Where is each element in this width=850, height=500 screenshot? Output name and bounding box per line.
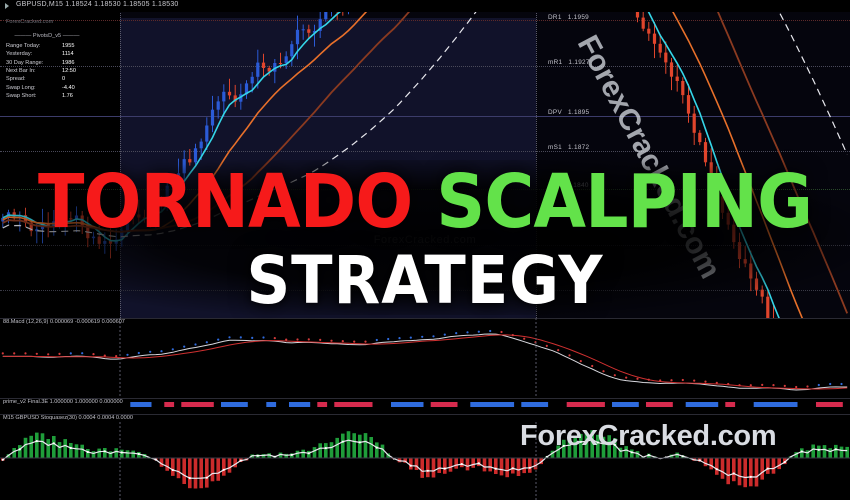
info-row: Swap Long:-4.40 [4, 84, 90, 92]
info-row: Yesterday:1114 [4, 50, 90, 58]
info-row-value: 1114 [62, 50, 88, 58]
prime-label: prime_v2 Final.3E 1.000000 1.000000 0.00… [3, 399, 123, 405]
macd-label: 88.Macd (12,26,9) 0.000069 -0.000619 0.0… [3, 319, 125, 325]
subwindow-macd[interactable]: 88.Macd (12,26,9) 0.000069 -0.000619 0.0… [0, 318, 850, 398]
price-level-label: DS11.1840 [548, 182, 589, 189]
info-row-value: 12:50 [62, 67, 88, 75]
info-row: Range Today:1955 [4, 42, 90, 50]
info-row-value: 1.76 [62, 92, 88, 100]
price-level-label: mS11.1872 [548, 144, 589, 151]
watermark-center: ForexCracked.com [0, 234, 850, 246]
info-row-label: Yesterday: [6, 50, 32, 58]
stoquasez-label: M15 GBPUSD Stoquasez(30) 0.0004 0.0004 0… [3, 415, 133, 421]
pivots-info-panel: ForexCracked.com ——— PivotsD_v5 ——— Rang… [4, 16, 90, 101]
price-level-label: DPV1.1895 [548, 109, 589, 116]
info-row-label: 30 Day Range: [6, 59, 43, 67]
prime-ribbon-svg [0, 398, 850, 414]
info-row: Swap Short:1.76 [4, 92, 90, 100]
price-level-label: DR11.1959 [548, 14, 589, 21]
subwindow-prime[interactable]: prime_v2 Final.3E 1.000000 1.000000 0.00… [0, 398, 850, 414]
collapse-arrow-icon[interactable] [5, 3, 9, 9]
info-row: 30 Day Range:1986 [4, 59, 90, 67]
chart-title-text: GBPUSD,M15 1.18524 1.18530 1.18505 1.185… [16, 1, 179, 8]
info-row-label: Range Today: [6, 42, 40, 50]
info-panel-title: ——— PivotsD_v5 ——— [4, 32, 90, 41]
info-row-value: 1955 [62, 42, 88, 50]
macd-svg [0, 318, 850, 398]
info-row-value: 0 [62, 75, 88, 83]
info-row-value: -4.40 [62, 84, 88, 92]
info-row-label: Spread: [6, 75, 26, 83]
info-panel-watermark: ForexCracked.com [4, 16, 90, 32]
info-row-label: Swap Long: [6, 84, 36, 92]
info-row: Spread:0 [4, 75, 90, 83]
chart-titlebar: GBPUSD,M15 1.18524 1.18530 1.18505 1.185… [0, 0, 850, 12]
watermark-bottom: ForexCracked.com [520, 420, 776, 453]
info-row-value: 1986 [62, 59, 88, 67]
trading-chart-screenshot: ForexCracked.com ——— PivotsD_v5 ——— Rang… [0, 0, 850, 500]
info-row-label: Swap Short: [6, 92, 36, 100]
info-row: Next Bar In:12:50 [4, 67, 90, 75]
info-row-label: Next Bar In: [6, 67, 36, 75]
